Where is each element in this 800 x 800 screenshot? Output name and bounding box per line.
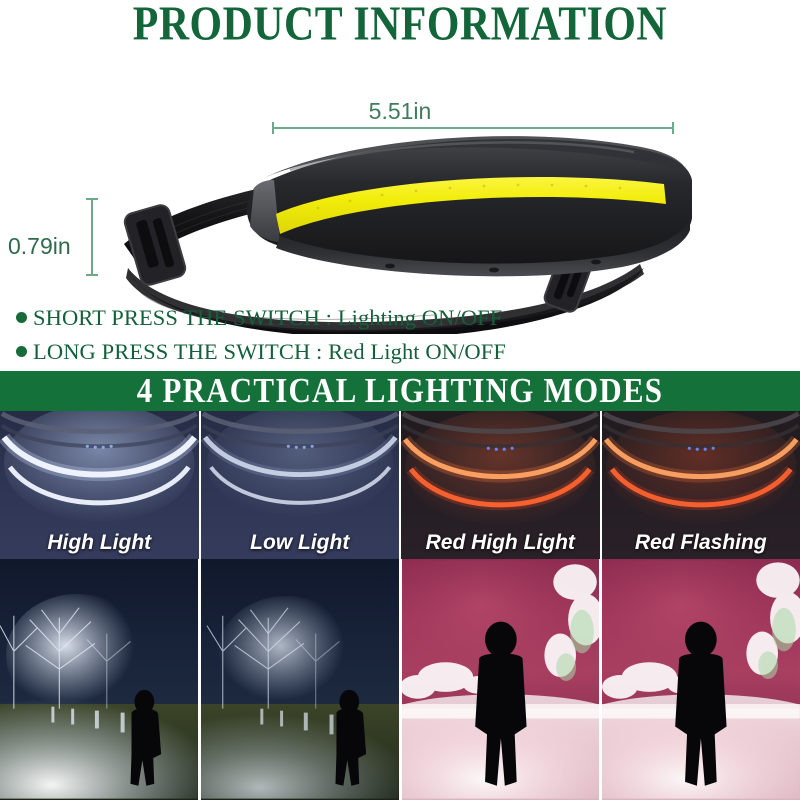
mode-panel-high-light: High Light bbox=[0, 411, 201, 559]
width-dimension-label: 5.51in bbox=[0, 98, 800, 125]
section-banner: 4 PRACTICAL LIGHTING MODES bbox=[0, 371, 800, 411]
product-photo-section: 5.51in 0.79in bbox=[0, 46, 800, 298]
height-dimension-label: 0.79in bbox=[8, 233, 71, 260]
instruction-text: SHORT PRESS THE SWITCH : Lighting ON/OFF bbox=[33, 305, 502, 331]
height-dimension-line bbox=[86, 198, 98, 276]
page-title: PRODUCT INFORMATION bbox=[0, 0, 800, 46]
dimension-tick-top bbox=[86, 198, 98, 200]
scene-panel-high-light bbox=[0, 559, 201, 800]
mode-panel-red-flashing: Red Flashing bbox=[602, 411, 800, 559]
mode-panel-red-high-light: Red High Light bbox=[401, 411, 602, 559]
scene-image bbox=[201, 559, 399, 800]
scene-image bbox=[0, 559, 198, 800]
mode-label: High Light bbox=[0, 531, 199, 555]
lighting-modes-row: High Light bbox=[0, 411, 800, 559]
mode-panel-low-light: Low Light bbox=[201, 411, 402, 559]
page-title-text: PRODUCT INFORMATION bbox=[133, 0, 667, 47]
instruction-list: SHORT PRESS THE SWITCH : Lighting ON/OFF… bbox=[0, 298, 800, 371]
scene-image bbox=[602, 559, 800, 800]
section-banner-text: 4 PRACTICAL LIGHTING MODES bbox=[137, 371, 663, 411]
scene-panel-red-flashing bbox=[602, 559, 800, 800]
mode-label: Red Flashing bbox=[602, 531, 800, 555]
dimension-bar-vertical bbox=[91, 198, 93, 276]
dimension-tick-bottom bbox=[86, 274, 98, 276]
scene-panel-low-light bbox=[201, 559, 402, 800]
mode-label: Red High Light bbox=[401, 531, 600, 555]
mode-label: Low Light bbox=[201, 531, 400, 555]
list-item: SHORT PRESS THE SWITCH : Lighting ON/OFF bbox=[16, 303, 800, 332]
bullet-icon bbox=[16, 312, 27, 323]
scene-panel-red-high-light bbox=[402, 559, 603, 800]
product-information-infographic: PRODUCT INFORMATION 5.51in 0.79in bbox=[0, 0, 800, 800]
list-item: LONG PRESS THE SWITCH : Red Light ON/OFF bbox=[16, 337, 800, 366]
usage-scenes-row bbox=[0, 559, 800, 800]
bullet-icon bbox=[16, 346, 27, 357]
instruction-text: LONG PRESS THE SWITCH : Red Light ON/OFF bbox=[33, 339, 506, 365]
scene-image bbox=[402, 559, 600, 800]
